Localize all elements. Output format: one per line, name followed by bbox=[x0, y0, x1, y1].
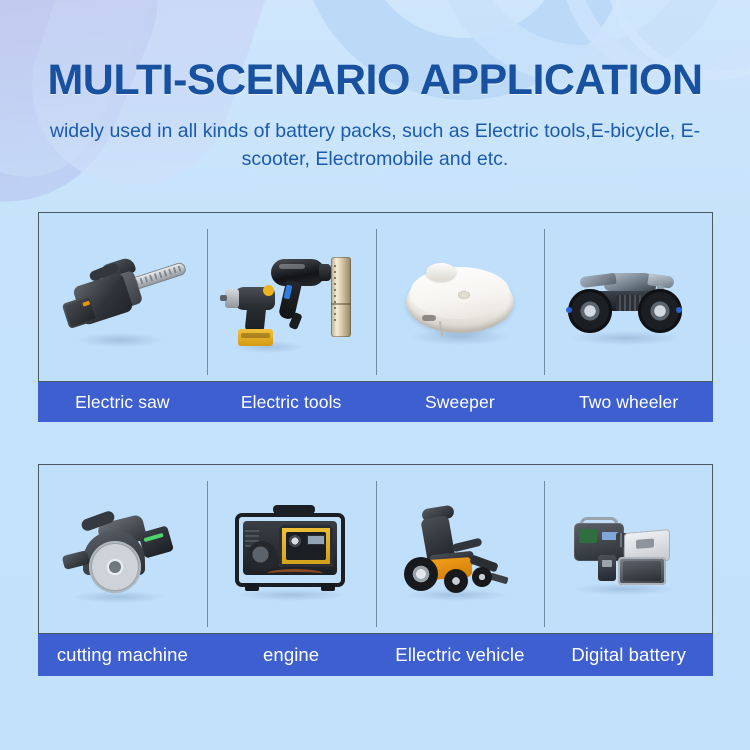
scenario-cell-electric-saw[interactable] bbox=[39, 213, 207, 381]
scenario-cell-cutting-machine[interactable] bbox=[39, 465, 207, 633]
scenario-row-1: Electric saw Electric tools Sweeper Two … bbox=[38, 212, 713, 422]
scenario-label-electric-vehicle: Ellectric vehicle bbox=[376, 634, 545, 676]
scenario-label-electric-saw: Electric saw bbox=[38, 382, 207, 422]
power-tools-icon bbox=[227, 245, 355, 349]
circular-saw-icon bbox=[59, 497, 187, 601]
scenario-label-electric-tools: Electric tools bbox=[207, 382, 376, 422]
scenario-cell-sweeper[interactable] bbox=[376, 213, 544, 381]
scenario-label-digital-battery: Digital battery bbox=[544, 634, 713, 676]
scenario-label-engine: engine bbox=[207, 634, 376, 676]
scenario-row-2: cutting machine engine Ellectric vehicle… bbox=[38, 464, 713, 676]
generator-icon bbox=[227, 497, 355, 601]
scenario-image-panel bbox=[38, 464, 713, 634]
electric-wheelchair-icon bbox=[396, 497, 524, 601]
scenario-cell-electric-tools[interactable] bbox=[207, 213, 375, 381]
page-title: MULTI-SCENARIO APPLICATION bbox=[0, 0, 750, 103]
motorcycle-icon bbox=[564, 245, 692, 349]
scenario-label-two-wheeler: Two wheeler bbox=[544, 382, 713, 422]
scenario-image-panel bbox=[38, 212, 713, 382]
chainsaw-icon bbox=[59, 245, 187, 349]
scenario-cell-electric-vehicle[interactable] bbox=[376, 465, 544, 633]
scenario-label-bar: Electric saw Electric tools Sweeper Two … bbox=[38, 382, 713, 422]
banner-header: MULTI-SCENARIO APPLICATION widely used i… bbox=[0, 0, 750, 174]
scenario-label-bar: cutting machine engine Ellectric vehicle… bbox=[38, 634, 713, 676]
power-station-icon bbox=[564, 497, 692, 601]
page-subtitle: widely used in all kinds of battery pack… bbox=[0, 103, 750, 173]
scenario-cell-two-wheeler[interactable] bbox=[544, 213, 712, 381]
robot-vacuum-icon bbox=[396, 245, 524, 349]
scenario-cell-engine[interactable] bbox=[207, 465, 375, 633]
scenario-label-sweeper: Sweeper bbox=[376, 382, 545, 422]
application-scenarios-banner: MULTI-SCENARIO APPLICATION widely used i… bbox=[0, 0, 750, 750]
scenario-cell-digital-battery[interactable] bbox=[544, 465, 712, 633]
scenario-label-cutting-machine: cutting machine bbox=[38, 634, 207, 676]
